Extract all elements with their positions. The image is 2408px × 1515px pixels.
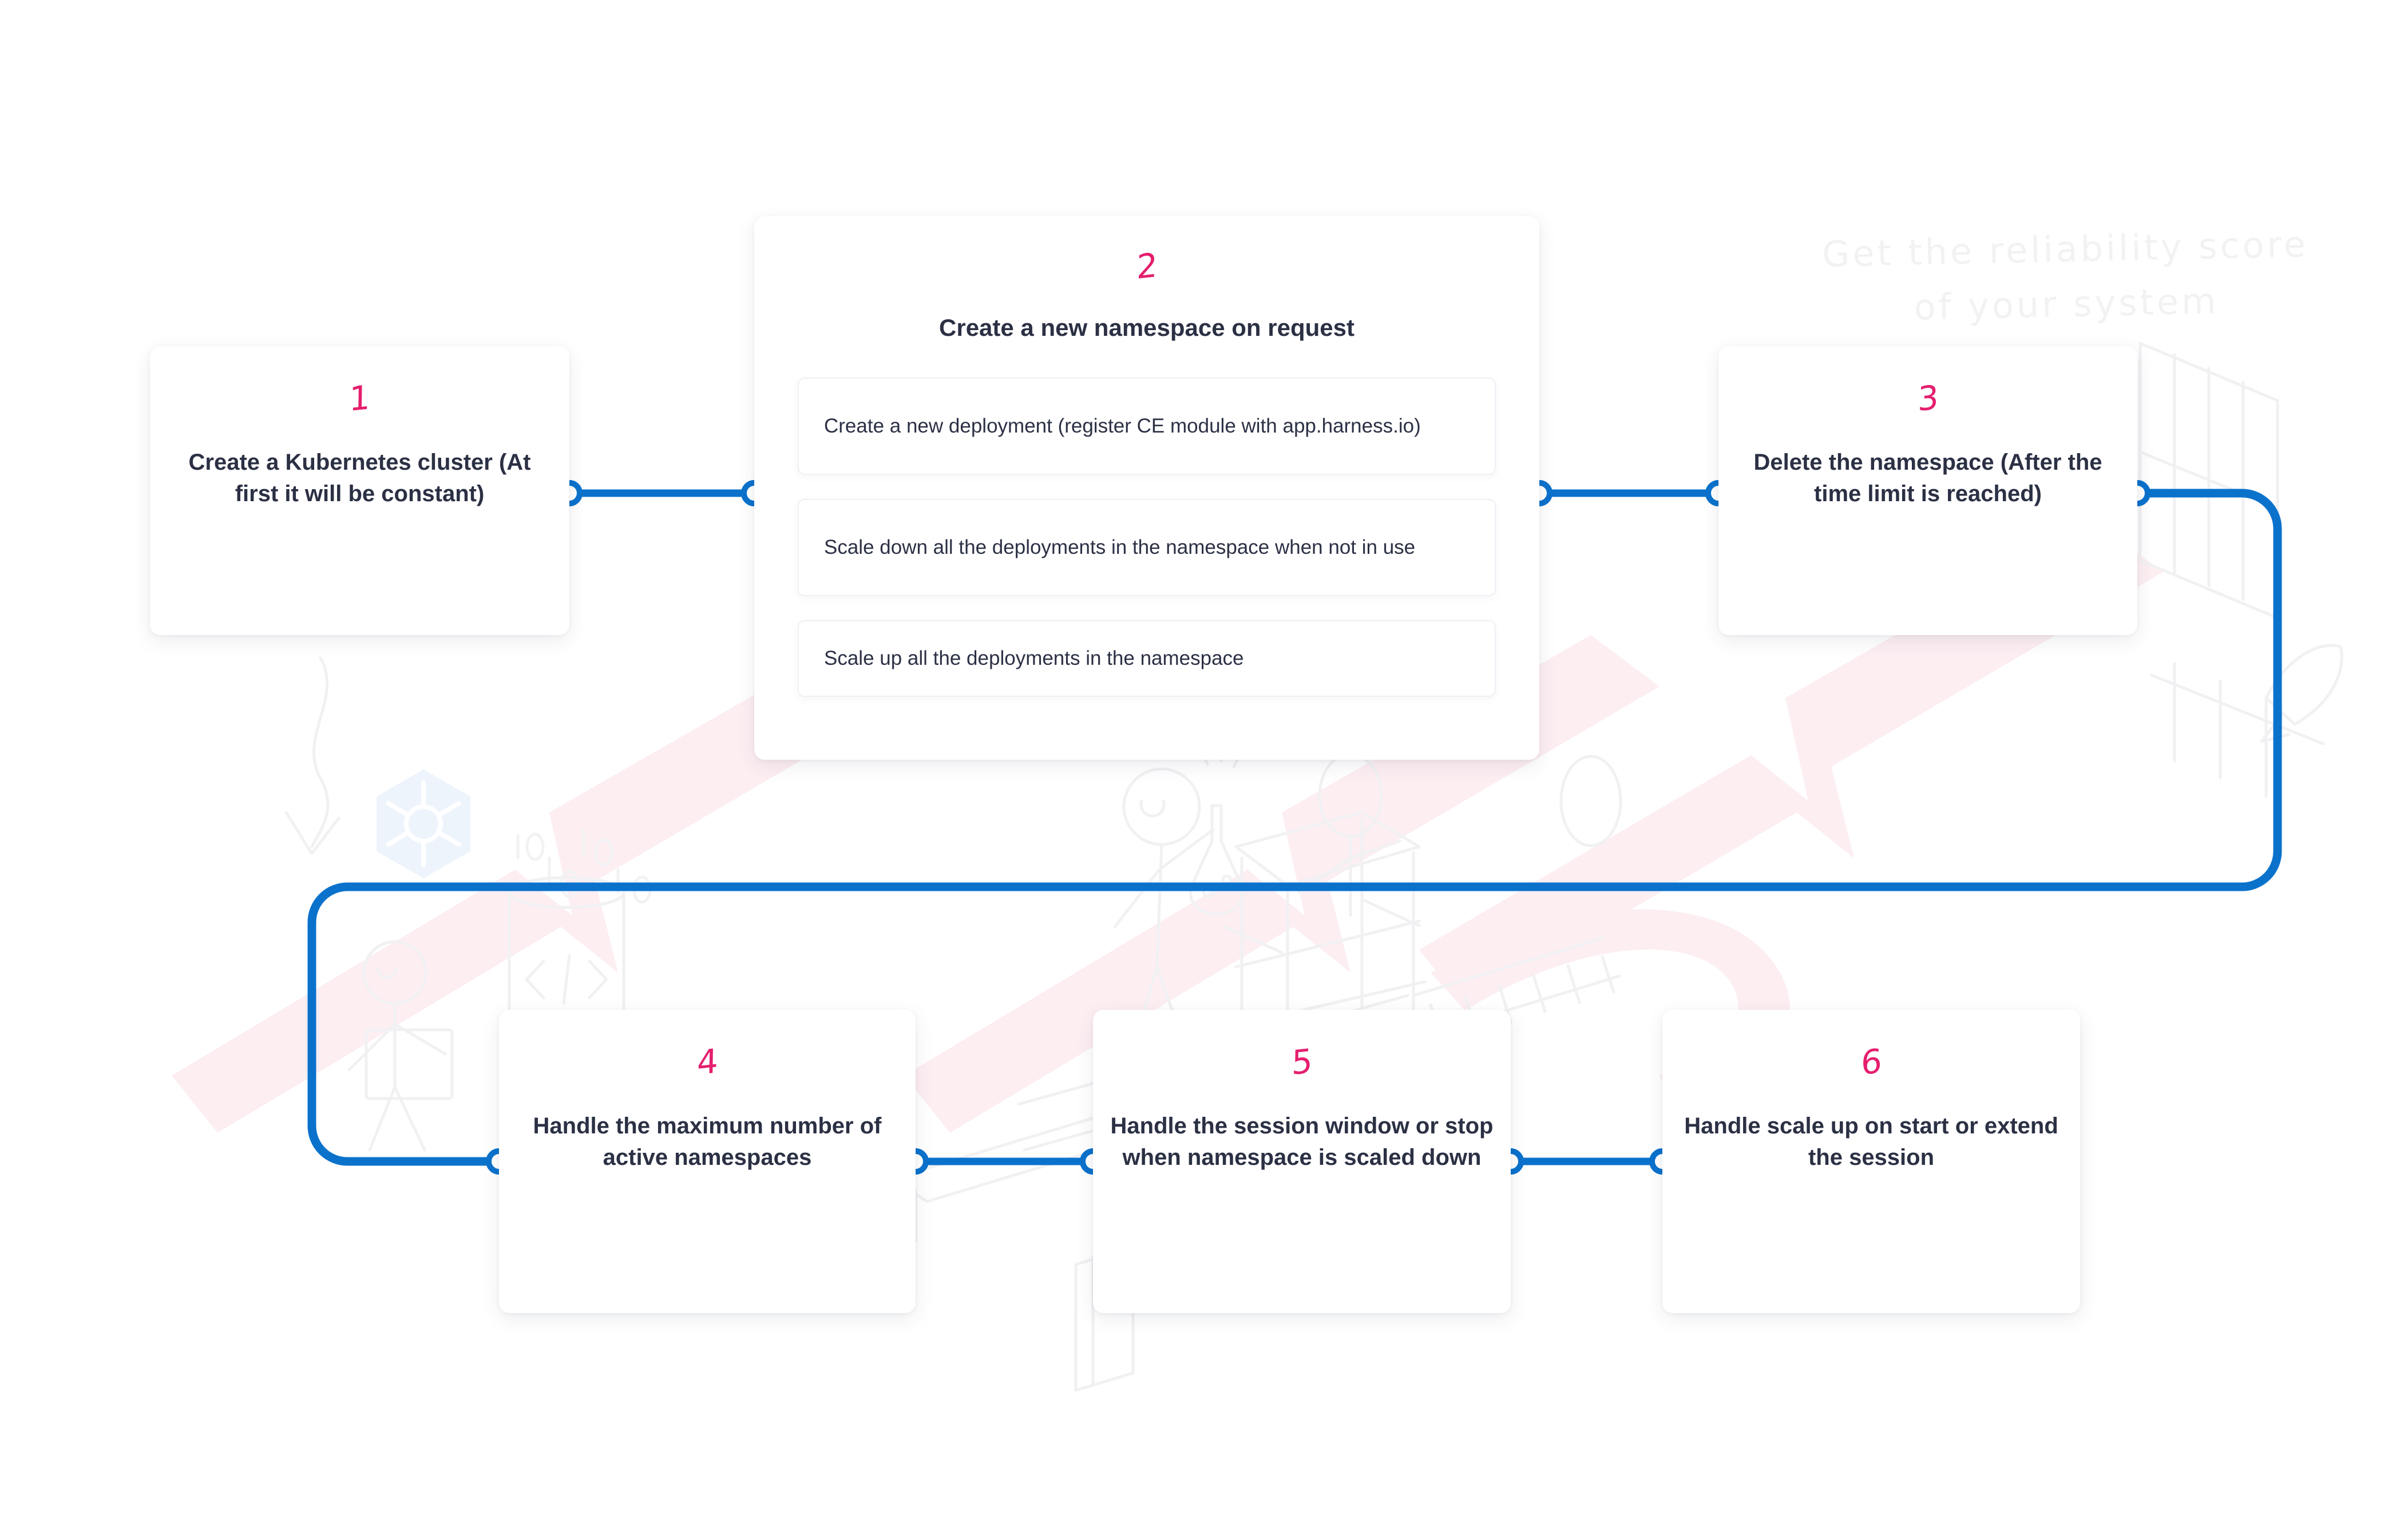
flow-card-6[interactable]: 6 Handle scale up on start or extend the… [1662,1010,2080,1313]
flow-card-5-number: 5 [1291,1044,1313,1080]
flow-card-3[interactable]: 3 Delete the namespace (After the time l… [1718,346,2137,635]
flow-card-3-title: Delete the namespace (After the time lim… [1718,447,2137,510]
flow-card-5-title: Handle the session window or stop when n… [1093,1111,1511,1173]
flow-card-2-subitem-2[interactable]: Scale down all the deployments in the na… [798,499,1496,596]
flow-card-1-title: Create a Kubernetes cluster (At first it… [150,447,569,510]
flow-card-6-number: 6 [1860,1044,1882,1080]
flow-card-6-title: Handle scale up on start or extend the s… [1662,1111,2080,1173]
flow-diagram-canvas: Get the reliability score of your system [0,0,2408,1515]
flow-card-2-subitem-list: Create a new deployment (register CE mod… [798,378,1496,697]
flow-card-4[interactable]: 4 Handle the maximum number of active na… [499,1010,916,1313]
flow-card-2-title: Create a new namespace on request [798,311,1496,344]
flow-card-1-number: 1 [349,380,371,416]
flow-card-4-number: 4 [696,1044,718,1080]
flow-card-2-subitem-3[interactable]: Scale up all the deployments in the name… [798,620,1496,697]
flow-card-4-title: Handle the maximum number of active name… [499,1111,916,1173]
flow-card-2-subitem-1[interactable]: Create a new deployment (register CE mod… [798,378,1496,475]
flow-card-1[interactable]: 1 Create a Kubernetes cluster (At first … [150,346,569,635]
flow-card-5[interactable]: 5 Handle the session window or stop when… [1093,1010,1511,1313]
flow-card-2[interactable]: 2 Create a new namespace on request Crea… [754,216,1539,760]
flow-card-2-number: 2 [1136,248,1158,284]
flow-card-3-number: 3 [1917,380,1939,416]
